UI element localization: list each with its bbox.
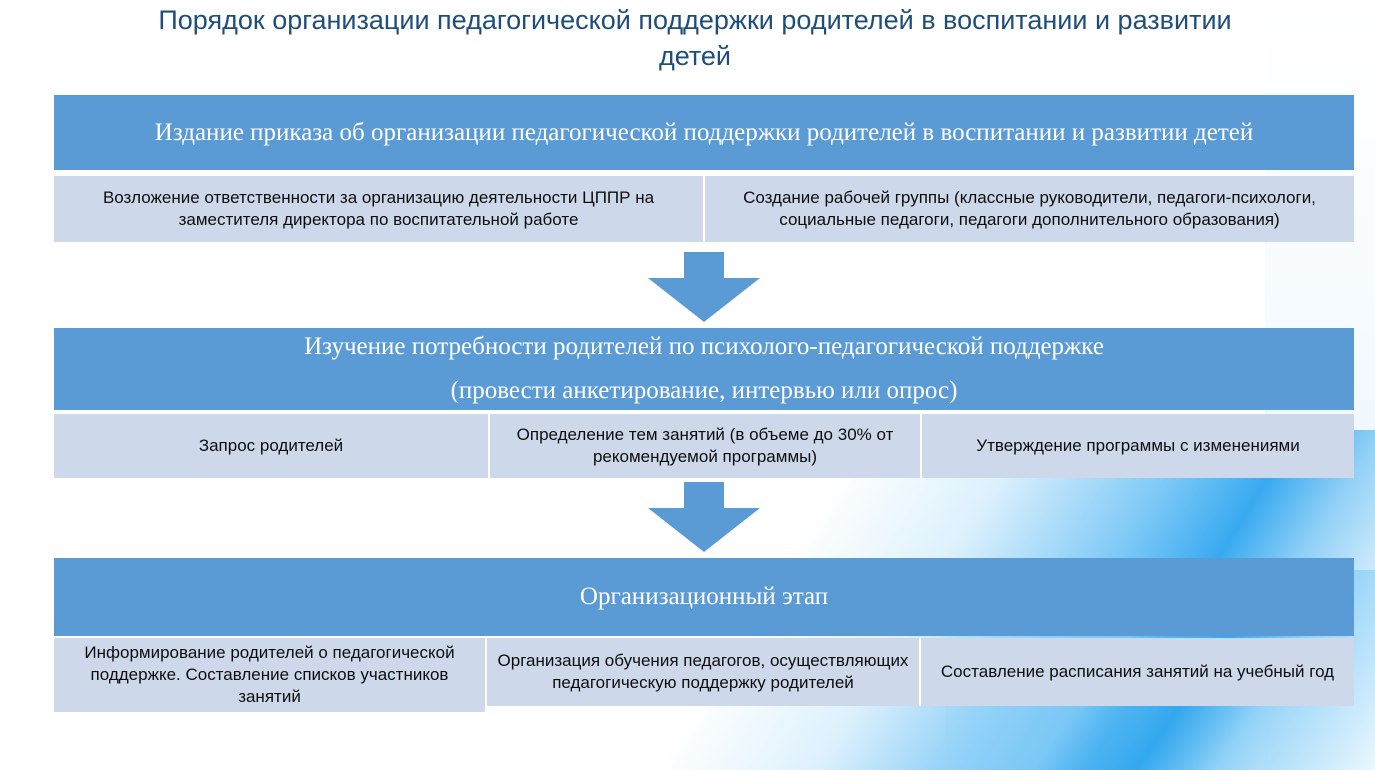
stage-1-items: Возложение ответственности за организаци…: [54, 176, 1354, 242]
stage-2-header: Изучение потребности родителей по психол…: [54, 328, 1354, 410]
stage-3-items: Информирование родителей о педагогическо…: [54, 638, 1354, 706]
stage-2-header-line-2: (провести анкетирование, интервью или оп…: [451, 376, 958, 406]
down-arrow-stage2-to-stage3: [648, 482, 760, 552]
stage-3-item-2[interactable]: Организация обучения педагогов, осуществ…: [487, 638, 921, 706]
stage-3-header: Организационный этап: [54, 558, 1354, 636]
down-arrow-stage1-to-stage2: [648, 252, 760, 322]
stage-3-item-3[interactable]: Составление расписания занятий на учебны…: [921, 638, 1354, 706]
stage-3-header-line-1: Организационный этап: [580, 582, 828, 612]
stage-1-header-line-1: Издание приказа об организации педагогич…: [155, 118, 1253, 148]
stage-2-item-2[interactable]: Определение тем занятий (в объеме до 30%…: [490, 414, 922, 478]
stage-1-header: Издание приказа об организации педагогич…: [54, 95, 1354, 170]
stage-2-items: Запрос родителей Определение тем занятий…: [54, 414, 1354, 478]
stage-2-item-3[interactable]: Утверждение программы с изменениями: [922, 414, 1354, 478]
page-title: Порядок организации педагогической подде…: [130, 2, 1260, 74]
stage-2-header-line-1: Изучение потребности родителей по психол…: [304, 332, 1104, 362]
stage-1-item-1[interactable]: Возложение ответственности за организаци…: [54, 176, 705, 242]
stage-3-item-1[interactable]: Информирование родителей о педагогическо…: [54, 638, 487, 712]
stage-1-item-2[interactable]: Создание рабочей группы (классные руково…: [705, 176, 1354, 242]
slide-canvas: Порядок организации педагогической подде…: [0, 0, 1375, 770]
stage-2-item-1[interactable]: Запрос родителей: [54, 414, 490, 478]
